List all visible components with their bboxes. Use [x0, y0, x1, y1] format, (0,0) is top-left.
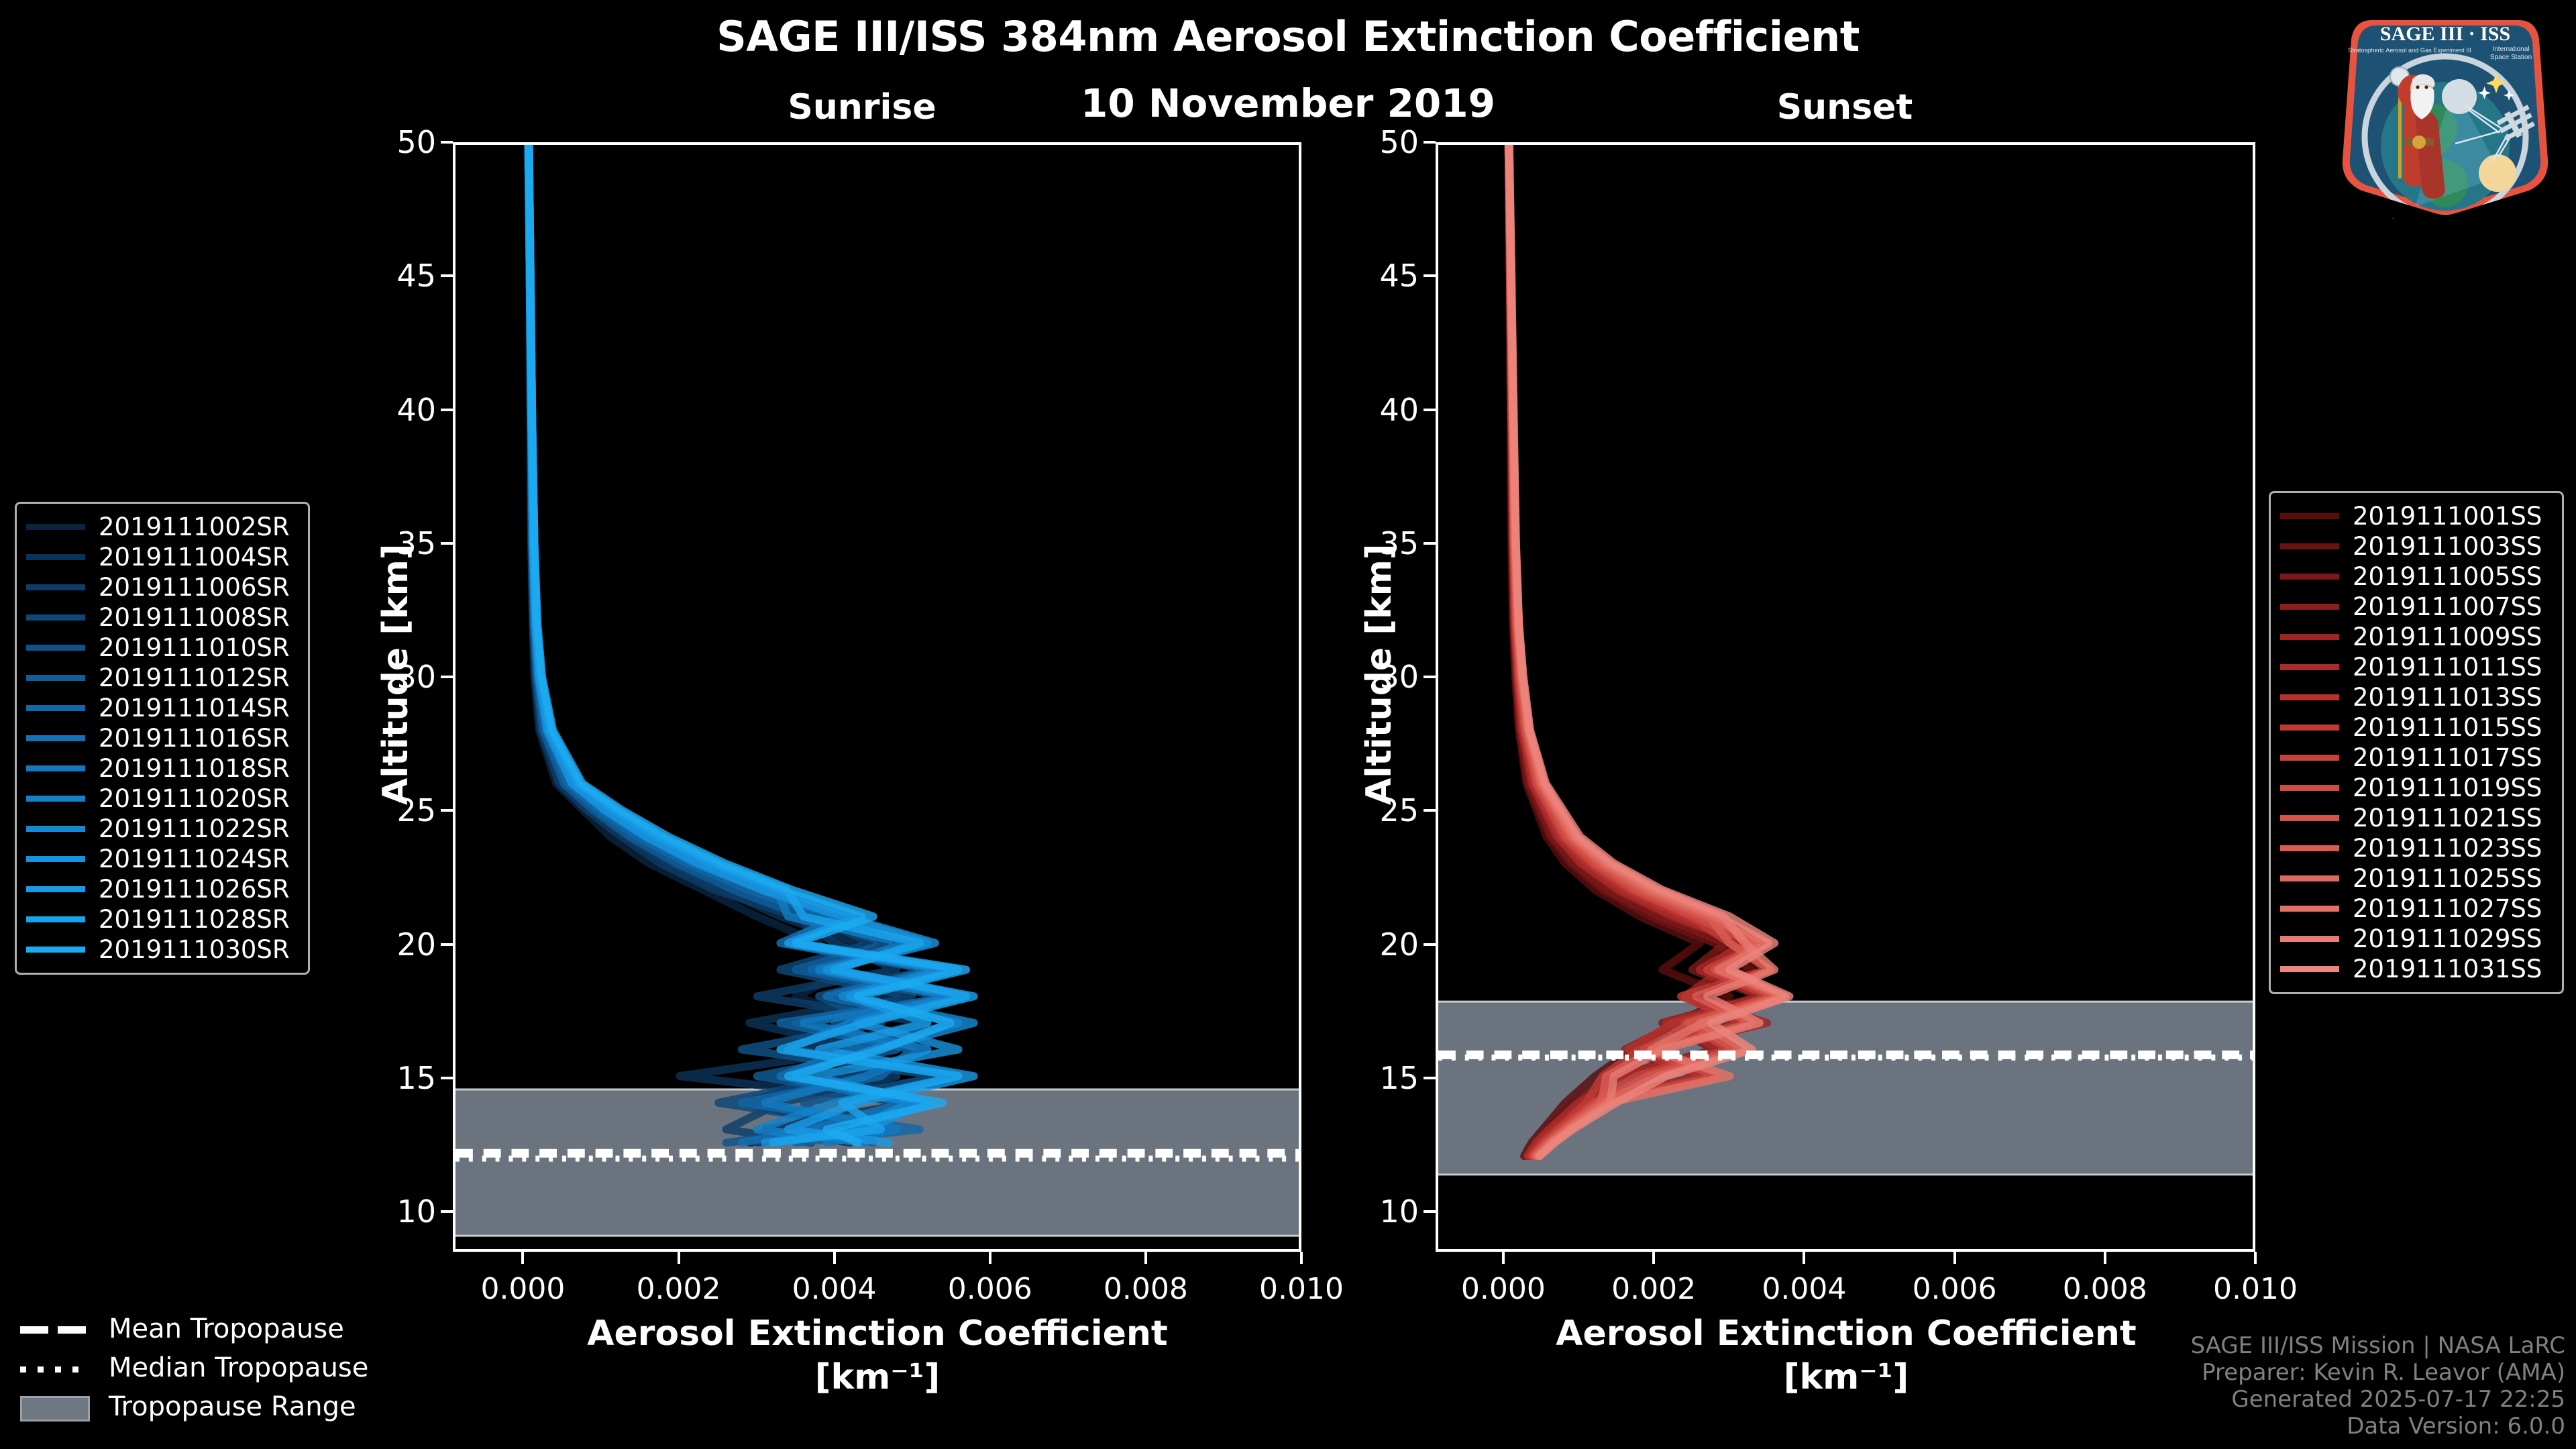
y-tick-label: 10 [329, 1193, 436, 1230]
legend-item-label: 2019111014SR [99, 694, 290, 722]
x-tick-label: 0.010 [2175, 1272, 2336, 1306]
legend-item[interactable]: 2019111010SR [26, 633, 299, 663]
legend-color-swatch [2280, 664, 2339, 670]
legend-item[interactable]: 2019111031SS [2280, 954, 2553, 984]
legend-item-label: 2019111022SR [99, 814, 290, 843]
y-tick-label: 10 [1311, 1193, 1419, 1230]
legend-item[interactable]: 2019111005SS [2280, 561, 2553, 592]
x-tick-label: 0.006 [910, 1272, 1071, 1306]
y-tick-label: 50 [1311, 124, 1419, 160]
credits-line-version: Data Version: 6.0.0 [2190, 1413, 2565, 1440]
legend-item-label: 2019111025SS [2353, 864, 2542, 893]
xlabel-sunset-line1: Aerosol Extinction Coefficient [1377, 1312, 2316, 1356]
legend-label-median: Median Tropopause [109, 1352, 368, 1383]
legend-color-swatch [2280, 785, 2339, 791]
legend-color-swatch [2280, 634, 2339, 640]
legend-color-swatch [26, 796, 85, 802]
y-tick-mark [1424, 676, 1436, 678]
y-tick-mark [441, 809, 453, 812]
legend-item-label: 2019111020SR [99, 784, 290, 813]
y-tick-mark [1424, 1210, 1436, 1213]
legend-item-label: 2019111007SS [2353, 592, 2542, 621]
legend-item-label: 2019111003SS [2353, 532, 2542, 561]
legend-color-swatch [2280, 604, 2339, 610]
x-tick-mark [989, 1252, 991, 1264]
legend-item-mean-tropopause: Mean Tropopause [20, 1309, 369, 1348]
x-tick-mark [678, 1252, 680, 1264]
y-tick-mark [441, 1210, 453, 1213]
x-tick-mark [1652, 1252, 1655, 1264]
legend-item[interactable]: 2019111012SR [26, 663, 299, 693]
legend-item[interactable]: 2019111017SS [2280, 743, 2553, 773]
legend-sunset[interactable]: 2019111001SS2019111003SS2019111005SS2019… [2269, 491, 2564, 994]
y-tick-label: 15 [329, 1060, 436, 1096]
y-tick-label: 45 [329, 258, 436, 294]
legend-item-median-tropopause: Median Tropopause [20, 1348, 369, 1387]
x-tick-label: 0.006 [1874, 1272, 2035, 1306]
y-tick-mark [1424, 409, 1436, 411]
y-tick-mark [441, 676, 453, 678]
x-tick-label: 0.008 [1065, 1272, 1226, 1306]
ylabel-sunset: Altitude [km] [1359, 543, 1399, 805]
legend-item-label: 2019111010SR [99, 633, 290, 662]
x-tick-label: 0.010 [1221, 1272, 1382, 1306]
legend-item[interactable]: 2019111026SR [26, 874, 299, 904]
y-tick-mark [441, 943, 453, 946]
legend-item-label: 2019111018SR [99, 754, 290, 783]
y-tick-mark [441, 1077, 453, 1079]
legend-item-label: 2019111012SR [99, 663, 290, 692]
credits-line-mission: SAGE III/ISS Mission | NASA LaRC [2190, 1332, 2565, 1359]
legend-item[interactable]: 2019111020SR [26, 784, 299, 814]
legend-color-swatch [2280, 936, 2339, 942]
legend-item-label: 2019111019SS [2353, 773, 2542, 802]
legend-item-tropopause-range: Tropopause Range [20, 1387, 369, 1426]
legend-item[interactable]: 2019111028SR [26, 904, 299, 934]
legend-item[interactable]: 2019111023SS [2280, 833, 2553, 863]
legend-item[interactable]: 2019111027SS [2280, 894, 2553, 924]
y-tick-label: 20 [329, 926, 436, 963]
x-tick-mark [1803, 1252, 1805, 1264]
logo-subtitle-right-1: International [2492, 46, 2529, 53]
legend-color-swatch [26, 947, 85, 953]
legend-item[interactable]: 2019111025SS [2280, 863, 2553, 894]
plot-sunset [1436, 142, 2255, 1252]
y-tick-mark [1424, 141, 1436, 144]
plot-area-sunrise [455, 145, 1299, 1249]
legend-item-label: 2019111006SR [99, 573, 290, 602]
legend-item[interactable]: 2019111030SR [26, 934, 299, 965]
y-tick-mark [441, 274, 453, 277]
legend-color-swatch [2280, 845, 2339, 851]
figure-canvas: SAGE III/ISS 384nm Aerosol Extinction Co… [0, 0, 2576, 1449]
y-tick-label: 40 [1311, 392, 1419, 428]
x-tick-mark [1300, 1252, 1303, 1264]
legend-item[interactable]: 2019111022SR [26, 814, 299, 844]
x-tick-mark [833, 1252, 836, 1264]
x-tick-mark [521, 1252, 524, 1264]
y-tick-mark [441, 542, 453, 545]
x-tick-label: 0.008 [2025, 1272, 2186, 1306]
tropopause-legend: Mean Tropopause Median Tropopause Tropop… [20, 1309, 369, 1426]
legend-item-label: 2019111005SS [2353, 562, 2542, 591]
legend-item-label: 2019111027SS [2353, 894, 2542, 923]
legend-item[interactable]: 2019111015SS [2280, 712, 2553, 743]
legend-item[interactable]: 2019111029SS [2280, 924, 2553, 954]
credits-block: SAGE III/ISS Mission | NASA LaRC Prepare… [2190, 1332, 2565, 1440]
legend-item-label: 2019111026SR [99, 875, 290, 904]
legend-color-swatch [2280, 694, 2339, 700]
legend-color-swatch [2280, 574, 2339, 580]
plot-area-sunset [1438, 145, 2253, 1249]
legend-color-swatch [2280, 906, 2339, 912]
legend-color-swatch [26, 705, 85, 711]
x-tick-label: 0.000 [442, 1272, 603, 1306]
x-tick-label: 0.002 [598, 1272, 759, 1306]
y-tick-label: 20 [1311, 926, 1419, 963]
xlabel-sunrise: Aerosol Extinction Coefficient [km⁻¹] [408, 1312, 1347, 1399]
x-tick-mark [1144, 1252, 1147, 1264]
legend-color-swatch [26, 826, 85, 832]
tropopause-range-band [1438, 1002, 2253, 1175]
x-tick-mark [1953, 1252, 1956, 1264]
xlabel-sunrise-line2: [km⁻¹] [408, 1356, 1347, 1399]
legend-item[interactable]: 2019111007SS [2280, 592, 2553, 622]
legend-item[interactable]: 2019111013SS [2280, 682, 2553, 712]
legend-item[interactable]: 2019111021SS [2280, 803, 2553, 833]
legend-item[interactable]: 2019111008SR [26, 602, 299, 633]
legend-color-swatch [26, 735, 85, 741]
legend-color-swatch [26, 554, 85, 560]
y-tick-mark [1424, 809, 1436, 812]
legend-color-swatch [26, 765, 85, 771]
dotted-line-icon [20, 1360, 94, 1375]
legend-color-swatch [26, 886, 85, 892]
plot-sunrise [453, 142, 1301, 1252]
sage-iii-iss-mission-patch-logo: SAGE III · ISS Stratospheric Aerosol and… [2334, 5, 2556, 219]
ylabel-sunrise: Altitude [km] [376, 543, 416, 805]
legend-item-label: 2019111024SR [99, 845, 290, 873]
dashed-line-icon [20, 1322, 94, 1336]
legend-item[interactable]: 2019111001SS [2280, 501, 2553, 531]
y-tick-mark [441, 409, 453, 411]
x-tick-mark [1502, 1252, 1505, 1264]
legend-item[interactable]: 2019111009SS [2280, 622, 2553, 652]
legend-item[interactable]: 2019111004SR [26, 542, 299, 572]
legend-color-swatch [2280, 724, 2339, 731]
panel-title-sunrise: Sunrise [661, 87, 1063, 127]
logo-ring-text: BALL · NASA · TAS-I · ESA [2386, 216, 2505, 219]
legend-item[interactable]: 2019111024SR [26, 844, 299, 874]
legend-item[interactable]: 2019111006SR [26, 572, 299, 602]
legend-label-mean: Mean Tropopause [109, 1313, 344, 1344]
legend-item-label: 2019111028SR [99, 905, 290, 934]
legend-color-swatch [26, 584, 85, 590]
legend-sunrise[interactable]: 2019111002SR2019111004SR2019111006SR2019… [15, 502, 310, 975]
legend-item[interactable]: 2019111018SR [26, 753, 299, 784]
xlabel-sunset: Aerosol Extinction Coefficient [km⁻¹] [1377, 1312, 2316, 1399]
legend-color-swatch [26, 856, 85, 862]
legend-item-label: 2019111029SS [2353, 924, 2542, 953]
y-tick-mark [441, 141, 453, 144]
legend-item-label: 2019111001SS [2353, 502, 2542, 531]
x-tick-label: 0.004 [1723, 1272, 1884, 1306]
panel-title-sunset: Sunset [1644, 87, 2046, 127]
legend-item[interactable]: 2019111003SS [2280, 531, 2553, 561]
x-tick-label: 0.002 [1573, 1272, 1734, 1306]
legend-item-label: 2019111002SR [99, 513, 290, 541]
legend-item-label: 2019111016SR [99, 724, 290, 753]
legend-color-swatch [2280, 815, 2339, 821]
y-tick-label: 15 [1311, 1060, 1419, 1096]
page-title: SAGE III/ISS 384nm Aerosol Extinction Co… [0, 12, 2576, 61]
credits-line-generated: Generated 2025-07-17 22:25 [2190, 1386, 2565, 1413]
legend-item-label: 2019111015SS [2353, 713, 2542, 742]
legend-color-swatch [2280, 875, 2339, 881]
logo-title: SAGE III · ISS [2380, 23, 2510, 45]
y-tick-mark [1424, 943, 1436, 946]
legend-item-label: 2019111004SR [99, 543, 290, 572]
legend-item-label: 2019111013SS [2353, 683, 2542, 712]
legend-color-swatch [2280, 543, 2339, 549]
date-subtitle: 10 November 2019 [0, 80, 2576, 126]
credits-line-preparer: Preparer: Kevin R. Leavor (AMA) [2190, 1359, 2565, 1386]
legend-item-label: 2019111011SS [2353, 653, 2542, 682]
legend-color-swatch [26, 614, 85, 621]
legend-item-label: 2019111009SS [2353, 623, 2542, 651]
legend-color-swatch [2280, 755, 2339, 761]
legend-item-label: 2019111031SS [2353, 955, 2542, 983]
logo-subtitle-right-2: Space Station [2490, 54, 2532, 61]
legend-item-label: 2019111030SR [99, 935, 290, 964]
x-tick-label: 0.004 [754, 1272, 915, 1306]
legend-color-swatch [26, 645, 85, 651]
legend-item[interactable]: 2019111002SR [26, 512, 299, 542]
x-tick-mark [2104, 1252, 2106, 1264]
legend-item-label: 2019111021SS [2353, 804, 2542, 833]
legend-item[interactable]: 2019111011SS [2280, 652, 2553, 682]
legend-item[interactable]: 2019111014SR [26, 693, 299, 723]
xlabel-sunset-line2: [km⁻¹] [1377, 1356, 2316, 1399]
filled-band-icon [20, 1399, 94, 1414]
legend-item-label: 2019111017SS [2353, 743, 2542, 772]
legend-item-label: 2019111023SS [2353, 834, 2542, 863]
legend-color-swatch [26, 675, 85, 681]
y-tick-label: 50 [329, 124, 436, 160]
xlabel-sunrise-line1: Aerosol Extinction Coefficient [408, 1312, 1347, 1356]
legend-item[interactable]: 2019111019SS [2280, 773, 2553, 803]
legend-item[interactable]: 2019111016SR [26, 723, 299, 753]
legend-item-label: 2019111008SR [99, 603, 290, 632]
legend-color-swatch [2280, 966, 2339, 972]
legend-color-swatch [26, 916, 85, 922]
legend-color-swatch [2280, 513, 2339, 519]
y-tick-label: 45 [1311, 258, 1419, 294]
logo-subtitle-left: Stratospheric Aerosol and Gas Experiment… [2348, 47, 2471, 54]
x-tick-mark [2254, 1252, 2257, 1264]
y-tick-label: 40 [329, 392, 436, 428]
x-tick-label: 0.000 [1423, 1272, 1584, 1306]
legend-label-range: Tropopause Range [109, 1391, 356, 1422]
legend-color-swatch [26, 524, 85, 530]
y-tick-mark [1424, 1077, 1436, 1079]
y-tick-mark [1424, 542, 1436, 545]
y-tick-mark [1424, 274, 1436, 277]
